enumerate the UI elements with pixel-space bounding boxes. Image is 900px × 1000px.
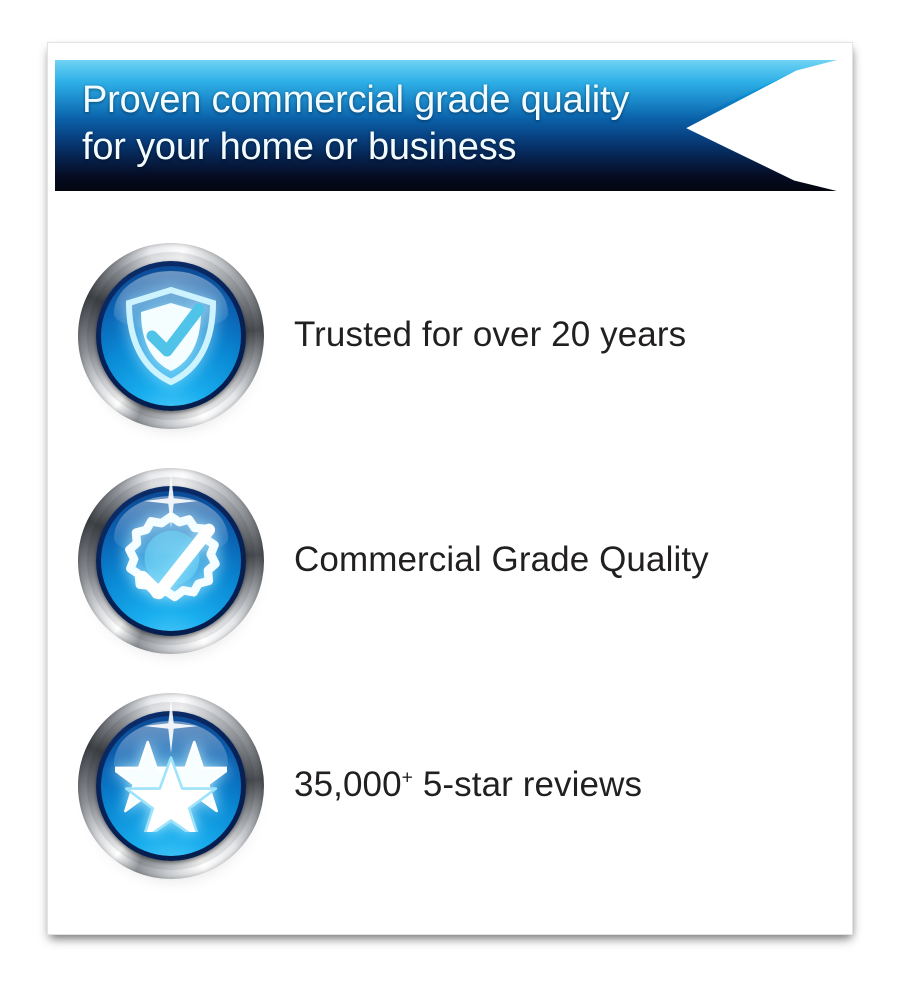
- feature-label: Commercial Grade Quality: [294, 540, 709, 580]
- feature-label-text: Trusted for over 20 years: [294, 315, 686, 354]
- feature-label-text: Commercial Grade Quality: [294, 540, 709, 579]
- feature-label-suffix: 5-star reviews: [413, 765, 642, 804]
- feature-label-superscript: +: [402, 768, 413, 789]
- shield-check-icon: [78, 243, 264, 429]
- banner-heading: Proven commercial grade quality for your…: [82, 77, 698, 171]
- feature-label: 35,000+ 5-star reviews: [294, 765, 642, 805]
- badge-slot: [48, 448, 294, 673]
- shield-check-badge: [78, 243, 264, 429]
- feature-row: Commercial Grade Quality: [48, 448, 854, 673]
- badge-slot: [48, 673, 294, 898]
- feature-row: 35,000+ 5-star reviews: [48, 673, 854, 898]
- headline-banner: Proven commercial grade quality for your…: [55, 60, 848, 191]
- three-stars-icon: [78, 693, 264, 879]
- feature-row: Trusted for over 20 years: [48, 223, 854, 448]
- three-stars-badge: [78, 693, 264, 879]
- gear-check-icon: [78, 468, 264, 654]
- badge-slot: [48, 223, 294, 448]
- feature-label: Trusted for over 20 years: [294, 315, 686, 355]
- feature-label-prefix: 35,000: [294, 765, 402, 804]
- gear-check-badge: [78, 468, 264, 654]
- promo-card: Proven commercial grade quality for your…: [47, 42, 853, 935]
- feature-list: Trusted for over 20 years: [48, 223, 854, 898]
